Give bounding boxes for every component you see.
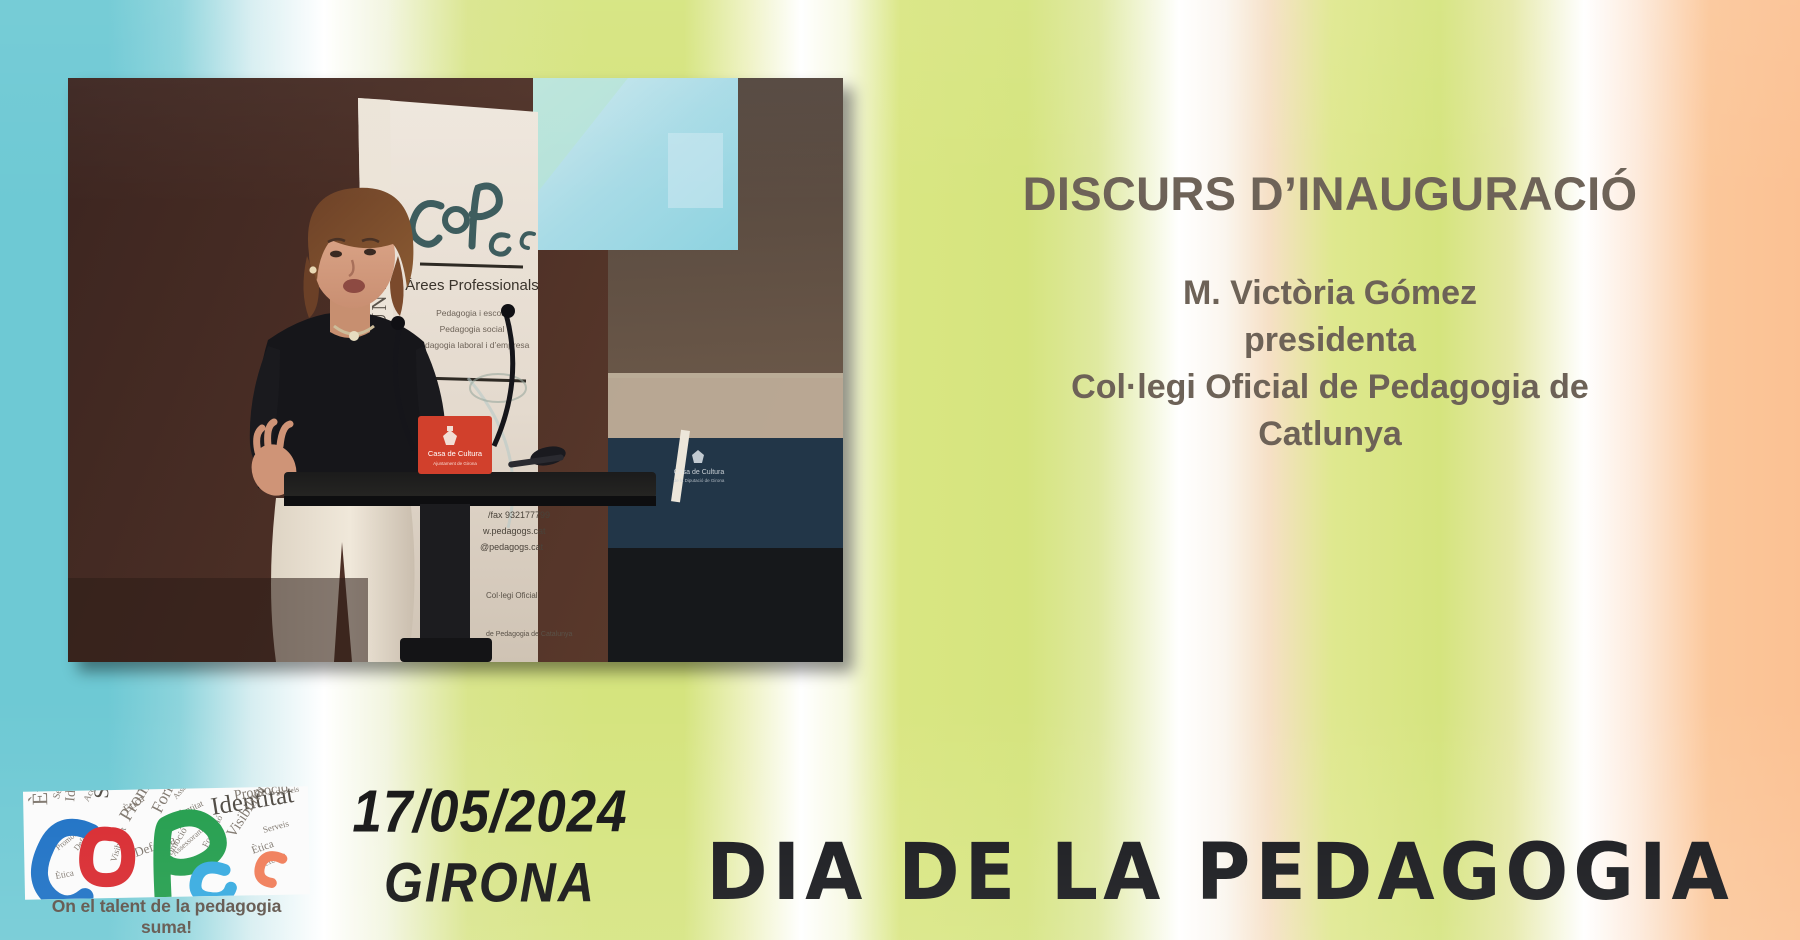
svg-text:Col·legi Oficial: Col·legi Oficial xyxy=(486,591,538,600)
copec-logo: Ètica Serveis Identitat Acompanyament Se… xyxy=(24,789,309,929)
event-date: 17/05/2024 xyxy=(330,780,650,845)
copec-logo-letters xyxy=(23,786,310,899)
svg-text:Ajuntament de Girona: Ajuntament de Girona xyxy=(433,461,477,466)
speaker-block: M. Victòria Gómez presidenta Col·legi Of… xyxy=(860,270,1800,458)
svg-text:/fax 932177799: /fax 932177799 xyxy=(488,510,550,520)
svg-text:de la Diputació de Girona: de la Diputació de Girona xyxy=(674,478,725,483)
svg-text:w.pedagogs.cat: w.pedagogs.cat xyxy=(482,526,546,536)
event-title: DIA DE LA PEDAGOGIA xyxy=(650,828,1790,917)
slide-canvas: GIA DE CATALUNYA Àrees Professionals Ped… xyxy=(0,0,1800,940)
svg-text:Àrees Professionals: Àrees Professionals xyxy=(405,277,538,294)
svg-text:Casa de Cultura: Casa de Cultura xyxy=(428,449,483,458)
event-photo: GIA DE CATALUNYA Àrees Professionals Ped… xyxy=(68,78,843,662)
speaker-role: presidenta xyxy=(860,317,1800,364)
svg-text:@pedagogs.cat: @pedagogs.cat xyxy=(480,542,544,552)
copec-logo-wordcloud: Ètica Serveis Identitat Acompanyament Se… xyxy=(23,786,310,899)
svg-text:de Pedagogia de Catalunya: de Pedagogia de Catalunya xyxy=(486,631,573,638)
svg-text:Pedagogia social: Pedagogia social xyxy=(440,324,505,334)
svg-text:Pedagogia i escola: Pedagogia i escola xyxy=(436,308,508,318)
copec-logo-tagline: On el talent de la pedagogia suma! xyxy=(24,896,309,938)
photo-illustration: GIA DE CATALUNYA Àrees Professionals Ped… xyxy=(68,78,843,662)
svg-text:Casa de Cultura: Casa de Cultura xyxy=(674,469,725,476)
speaker-org-line2: Catlunya xyxy=(860,411,1800,458)
speaker-org-line1: Col·legi Oficial de Pedagogia de xyxy=(860,364,1800,411)
event-city: GIRONA xyxy=(330,850,650,915)
speaker-name: M. Victòria Gómez xyxy=(860,270,1800,317)
event-date-city: 17/05/2024 GIRONA xyxy=(330,780,650,908)
page-title: DISCURS D’INAUGURACIÓ xyxy=(860,166,1800,221)
